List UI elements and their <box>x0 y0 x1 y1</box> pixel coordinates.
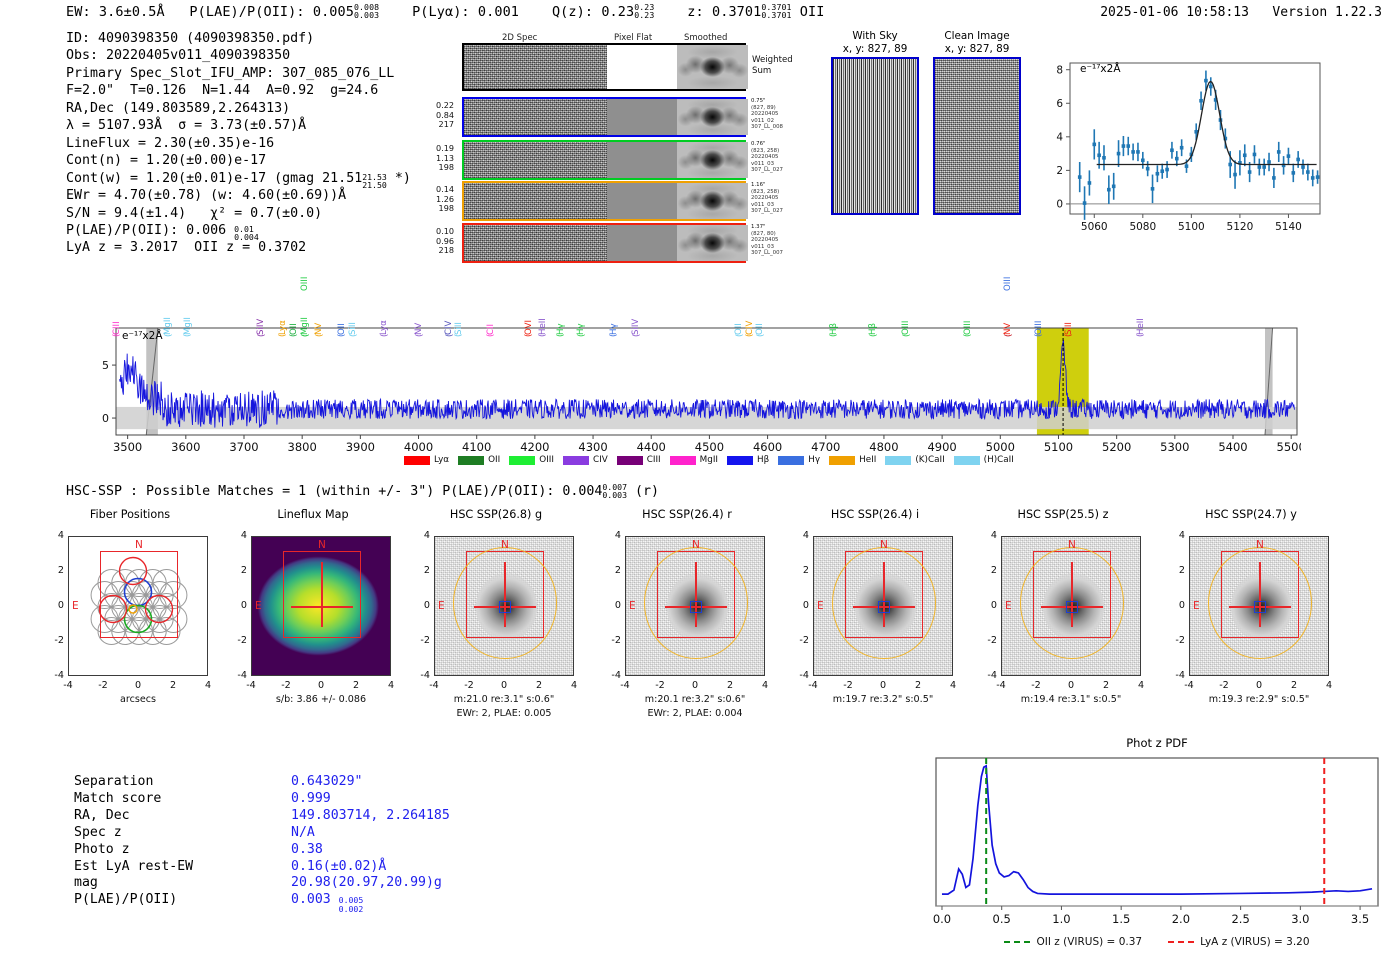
emission-line-bracket-24: ( <box>756 334 766 337</box>
legend-label-9: (K)CaII <box>915 455 944 465</box>
compass-east-1: E <box>255 600 262 612</box>
cutout-caption2-3: EWr: 2, PLAE: 0.004 <box>609 708 781 719</box>
cutout-xtick-6-0: -4 <box>1177 680 1201 691</box>
emission-line-label-MgII-6: MgII <box>301 317 310 335</box>
svg-text:0: 0 <box>1056 199 1063 211</box>
legend-swatch-8 <box>829 456 855 465</box>
spec2d-row-0-cell-2 <box>677 99 748 135</box>
compass-east-3: E <box>629 600 636 612</box>
svg-text:4800: 4800 <box>869 440 898 454</box>
emission-line-label-OIII-29: OIII <box>1004 277 1013 291</box>
spectrum-legend-item-HCaII: (H)CaII <box>954 455 1014 465</box>
compass-east-6: E <box>1193 600 1200 612</box>
spec2d-row-1-meta-4: 307_LL_027 <box>751 167 807 173</box>
spec2d-row-2 <box>462 181 746 221</box>
spectrum-legend-item-H: Hβ <box>727 455 769 465</box>
svg-text:5140: 5140 <box>1275 221 1302 233</box>
cutout-xlabel-0: arcsecs <box>68 694 208 705</box>
cutout-ytick-4-3: -2 <box>787 635 809 646</box>
cutout-xtick-3-1: -2 <box>648 680 672 691</box>
cutout-ytick-2-2: 0 <box>408 600 430 611</box>
cutout-xtick-2-1: -2 <box>457 680 481 691</box>
spec2d-row-2-num-0: 0.14 <box>420 185 454 194</box>
compass-east-2: E <box>438 600 445 612</box>
cutout-xtick-3-4: 4 <box>753 680 777 691</box>
cutout-xtick-3-3: 2 <box>718 680 742 691</box>
with-sky-title: With Sky <box>826 30 924 43</box>
header-plae-label: P(LAE)/P(OII): <box>189 4 304 20</box>
spec2d-row-0 <box>462 97 746 137</box>
spec2d-col-title-2: Smoothed <box>684 33 727 43</box>
svg-text:4200: 4200 <box>520 440 549 454</box>
spec2d-col-title-0: 2D Spec <box>502 33 537 43</box>
info-redshifts: LyA z = 3.2017 OII z = 0.3702 <box>66 239 411 256</box>
line-profile-plot: 5060508051005120514002468e⁻¹⁷x2Å <box>1036 55 1326 240</box>
cutout-xtick-6-1: -2 <box>1212 680 1236 691</box>
cutout-xtick-0-4: 4 <box>196 680 220 691</box>
spec2d-row-1-meta-3: v011_03 <box>751 161 807 167</box>
match-marker-6 <box>1254 601 1266 613</box>
cutout-box-6: NE <box>1189 536 1329 676</box>
hsc-header-text: HSC-SSP : Possible Matches = 1 (within +… <box>66 484 602 499</box>
spec2d-row-2-cell-0 <box>464 183 607 219</box>
cutout-caption2-2: EWr: 2, PLAE: 0.005 <box>418 708 590 719</box>
header-plya-value: 0.001 <box>478 4 519 20</box>
spec2d-row-1-meta-2: 20220405 <box>751 154 807 160</box>
svg-text:4000: 4000 <box>404 440 433 454</box>
photz-legend: OII z (VIRUS) = 0.37LyA z (VIRUS) = 3.20 <box>928 936 1386 948</box>
svg-text:5400: 5400 <box>1218 440 1247 454</box>
legend-swatch-3 <box>563 456 589 465</box>
emission-line-bracket-3: ( <box>257 334 267 337</box>
spectrum-legend-item-MgII: MgII <box>670 455 718 465</box>
match-table-label-5: Est LyA rest-EW <box>74 860 289 875</box>
clean-image-thumb-wrap: Clean Image x, y: 827, 89 <box>928 30 1026 215</box>
emission-line-bracket-22: ( <box>735 334 745 337</box>
cutout-xtick-0-1: -2 <box>91 680 115 691</box>
emission-line-label-SiIV-21: SiIV <box>632 319 641 335</box>
spec2d-row-1 <box>462 140 746 180</box>
legend-swatch-4 <box>617 456 643 465</box>
header-qz-label: Q(z): <box>552 4 593 20</box>
cutout-xtick-6-2: 0 <box>1247 680 1271 691</box>
svg-text:0: 0 <box>102 412 109 425</box>
match-table-value-7: 0.003 0.0050.002 <box>291 893 450 909</box>
compass-east-5: E <box>1005 600 1012 612</box>
header-z-errors: 0.37010.3701 <box>761 3 791 19</box>
legend-swatch-0 <box>404 456 430 465</box>
cutout-ytick-6-1: 2 <box>1163 565 1185 576</box>
emission-line-bracket-30: ( <box>1004 334 1014 337</box>
with-sky-thumb-wrap: With Sky x, y: 827, 89 <box>826 30 924 215</box>
svg-text:5120: 5120 <box>1227 221 1254 233</box>
info-obs: Obs: 20220405v011_4090398350 <box>66 47 411 64</box>
cutout-ytick-3-2: 0 <box>599 600 621 611</box>
legend-label-8: HeII <box>859 455 876 465</box>
cutout-xtick-1-0: -4 <box>239 680 263 691</box>
spec2d-row-1-meta-0: 0.76" <box>751 141 807 147</box>
emission-line-bracket-28: ( <box>963 334 973 337</box>
cutout-xtick-0-0: -4 <box>56 680 80 691</box>
svg-text:4: 4 <box>1056 131 1063 143</box>
emission-line-label-MgII-1: MgII <box>164 317 173 335</box>
cutout-box-1: NE <box>251 536 391 676</box>
spec2d-row-0-meta-4: 307_LL_008 <box>751 124 807 130</box>
compass-north-5: N <box>1068 539 1076 551</box>
spec2d-ws-cell-0 <box>464 45 607 89</box>
cutout-ytick-2-3: -2 <box>408 635 430 646</box>
svg-text:4300: 4300 <box>578 440 607 454</box>
emission-line-label-HeII-17: HeII <box>539 318 548 335</box>
compass-north-6: N <box>1256 539 1264 551</box>
svg-text:8: 8 <box>1056 64 1063 76</box>
legend-label-2: OIII <box>539 455 554 465</box>
cutout-xtick-6-3: 2 <box>1282 680 1306 691</box>
hsc-header-errors: 0.0070.003 <box>602 483 627 499</box>
full-spectrum-svg: 0535003600370038003900400041004200430044… <box>86 270 1301 465</box>
cutout-xtick-0-3: 2 <box>161 680 185 691</box>
cutout-title-3: HSC SSP(26.4) r <box>617 508 757 521</box>
spec2d-row-2-meta-0: 1.16" <box>751 182 807 188</box>
cutout-ytick-0-1: 2 <box>42 565 64 576</box>
svg-text:5060: 5060 <box>1081 221 1108 233</box>
spectrum-legend-item-KCaII: (K)CaII <box>885 455 944 465</box>
timestamp: 2025-01-06 10:58:13 <box>1100 5 1249 20</box>
spectrum-legend-item-HeII: HeII <box>829 455 876 465</box>
spec2d-row-1-meta-1: (823, 258) <box>751 148 807 154</box>
emission-line-bracket-21: ( <box>632 334 642 337</box>
spec2d-row-0-meta-3: v011_02 <box>751 118 807 124</box>
cutout-xtick-6-4: 4 <box>1317 680 1341 691</box>
compass-north-3: N <box>692 539 700 551</box>
cutout-xtick-5-4: 4 <box>1129 680 1153 691</box>
match-table-row: RA, Dec149.803714, 2.264185 <box>74 809 450 824</box>
emission-line-bracket-25: ( <box>829 334 839 337</box>
emission-line-bracket-31: ( <box>1034 334 1044 337</box>
cutout-box-3: NE <box>625 536 765 676</box>
weighted-sum-label-1: Sum <box>752 66 771 76</box>
cutout-caption-6: m:19.3 re:2.9" s:0.5" <box>1173 694 1345 705</box>
match-table-value-3: N/A <box>291 826 450 841</box>
cutout-ytick-1-2: 0 <box>225 600 247 611</box>
match-table-label-2: RA, Dec <box>74 809 289 824</box>
header-version-line: 2025-01-06 10:58:13 Version 1.22.3 <box>1100 5 1382 20</box>
svg-text:3900: 3900 <box>346 440 375 454</box>
cutout-ytick-6-0: 4 <box>1163 530 1185 541</box>
info-ewr: EWr = 4.70(±0.78) (w: 4.60(±0.69))Å <box>66 187 411 204</box>
cutout-title-4: HSC SSP(26.4) i <box>805 508 945 521</box>
legend-swatch-2 <box>509 456 535 465</box>
match-table-row: Spec zN/A <box>74 826 450 841</box>
cutout-box-2: NE <box>434 536 574 676</box>
source-info-block: ID: 4090398350 (4090398350.pdf) Obs: 202… <box>66 30 411 257</box>
legend-label-3: CIV <box>593 455 608 465</box>
info-lineflux: LineFlux = 2.30(±0.35)e-16 <box>66 135 411 152</box>
cutout-title-0: Fiber Positions <box>60 508 200 521</box>
emission-line-bracket-15: ( <box>486 334 496 337</box>
cutout-xtick-4-1: -2 <box>836 680 860 691</box>
match-table-value-4: 0.38 <box>291 843 450 858</box>
svg-text:3600: 3600 <box>171 440 200 454</box>
svg-text:5500: 5500 <box>1277 440 1301 454</box>
cutout-caption-4: m:19.7 re:3.2" s:0.5" <box>797 694 969 705</box>
cutout-title-2: HSC SSP(26.8) g <box>426 508 566 521</box>
cutout-box-0: NE <box>68 536 208 676</box>
emission-line-bracket-16: ( <box>524 334 534 337</box>
spec2d-row-3-cell-0 <box>464 225 607 261</box>
spec2d-row-3-meta-0: 1.37" <box>751 224 807 230</box>
svg-text:0.0: 0.0 <box>933 912 951 926</box>
cutout-caption-1: s/b: 3.86 +/- 0.086 <box>235 694 407 705</box>
photz-legend-item-1: LyA z (VIRUS) = 3.20 <box>1168 936 1309 948</box>
cutout-title-1: Lineflux Map <box>243 508 383 521</box>
cutout-xtick-5-0: -4 <box>989 680 1013 691</box>
legend-swatch-9 <box>885 456 911 465</box>
match-table-label-0: Separation <box>74 775 289 790</box>
header-qz-value: 0.23 <box>601 4 634 20</box>
match-marker-3 <box>690 601 702 613</box>
compass-east-0: E <box>72 600 79 612</box>
emission-line-label-SiIV-3: SiIV <box>257 319 266 335</box>
svg-text:5100: 5100 <box>1178 221 1205 233</box>
clean-image-image <box>933 57 1021 215</box>
photz-legend-label-0: OII z (VIRUS) = 0.37 <box>1036 936 1142 948</box>
emission-line-bracket-23: ( <box>745 334 755 337</box>
header-z-label: z: <box>687 4 703 20</box>
svg-text:0.5: 0.5 <box>993 912 1011 926</box>
emission-line-bracket-17: ( <box>538 334 548 337</box>
info-cont-n: Cont(n) = 1.20(±0.00)e-17 <box>66 152 411 169</box>
match-table-row: Separation0.643029" <box>74 775 450 790</box>
svg-text:5200: 5200 <box>1102 440 1131 454</box>
cutout-ytick-4-2: 0 <box>787 600 809 611</box>
info-radec: RA,Dec (149.803589,2.264313) <box>66 100 411 117</box>
match-table-errors-7: 0.0050.002 <box>339 896 364 912</box>
spec2d-row-2-cell-1 <box>607 183 677 219</box>
legend-label-4: CIII <box>647 455 661 465</box>
line-profile-svg: 5060508051005120514002468 <box>1036 55 1326 240</box>
cutout-ytick-6-3: -2 <box>1163 635 1185 646</box>
cutout-xtick-2-2: 0 <box>492 680 516 691</box>
spec2d-row-1-num-2: 198 <box>420 163 454 172</box>
match-table-value-0: 0.643029" <box>291 775 450 790</box>
header-plya-label: P(Lyα): <box>412 4 470 20</box>
header-z-value: 0.3701 <box>712 4 761 20</box>
legend-swatch-1 <box>458 456 484 465</box>
aperture-box-0 <box>100 551 178 638</box>
svg-text:4700: 4700 <box>811 440 840 454</box>
emission-line-bracket-18: ( <box>556 334 566 337</box>
match-marker-4 <box>878 601 890 613</box>
full-spectrum-plot: 0535003600370038003900400041004200430044… <box>86 270 1301 465</box>
emission-line-bracket-7: ( <box>301 334 311 337</box>
svg-text:2.0: 2.0 <box>1172 912 1190 926</box>
cutout-ytick-5-1: 2 <box>975 565 997 576</box>
header-qz-errors: 0.230.23 <box>634 3 654 19</box>
cutout-xtick-1-3: 2 <box>344 680 368 691</box>
emission-line-bracket-13: ( <box>445 334 455 337</box>
emission-line-bracket-11: ( <box>380 334 390 337</box>
spectrum-legend-item-OII: OII <box>458 455 500 465</box>
spec2d-row-3-meta-2: 20220405 <box>751 237 807 243</box>
spec2d-col-title-1: Pixel Flat <box>614 33 652 43</box>
spec2d-panel-group: 2D SpecPixel FlatSmoothedWeightedSum0.22… <box>462 33 767 243</box>
crosshair-v-1 <box>321 562 322 626</box>
svg-text:1.5: 1.5 <box>1112 912 1130 926</box>
cutout-caption-5: m:19.4 re:3.1" s:0.5" <box>985 694 1157 705</box>
cutout-ytick-1-1: 2 <box>225 565 247 576</box>
svg-text:3.5: 3.5 <box>1351 912 1369 926</box>
match-table-row: P(LAE)/P(OII)0.003 0.0050.002 <box>74 893 450 909</box>
spec2d-row-2-meta-4: 307_LL_027 <box>751 208 807 214</box>
legend-swatch-10 <box>954 456 980 465</box>
cutout-xtick-0-2: 0 <box>126 680 150 691</box>
info-id: ID: 4090398350 (4090398350.pdf) <box>66 30 411 47</box>
emission-line-bracket-0: ( <box>112 334 122 337</box>
spec2d-row-0-meta-1: (827, 89) <box>751 105 807 111</box>
cutout-title-5: HSC SSP(25.5) z <box>993 508 1133 521</box>
cutout-title-6: HSC SSP(24.7) y <box>1181 508 1321 521</box>
info-lambda: λ = 5107.93Å σ = 3.73(±0.57)Å <box>66 117 411 134</box>
spec2d-weighted-sum-row <box>462 43 746 91</box>
emission-line-label-OIII-7: OIII <box>301 277 310 291</box>
svg-text:4400: 4400 <box>637 440 666 454</box>
spec2d-row-1-cell-2 <box>677 142 748 178</box>
header-ew: EW: 3.6±0.5Å <box>66 4 165 20</box>
header-z-type: OII <box>800 4 825 20</box>
header-plae-errors: 0.0080.003 <box>354 3 379 19</box>
match-marker-2 <box>499 601 511 613</box>
compass-north-4: N <box>880 539 888 551</box>
cutout-xtick-5-3: 2 <box>1094 680 1118 691</box>
cutout-xtick-1-1: -2 <box>274 680 298 691</box>
emission-line-label-HeII-33: HeII <box>1137 318 1146 335</box>
emission-line-bracket-10: ( <box>349 334 359 337</box>
svg-text:5000: 5000 <box>986 440 1015 454</box>
match-table-value-5: 0.16(±0.02)Å <box>291 860 450 875</box>
cutout-ytick-4-0: 4 <box>787 530 809 541</box>
emission-line-bracket-27: ( <box>902 334 912 337</box>
spec2d-row-0-cell-1 <box>607 99 677 135</box>
match-table-label-3: Spec z <box>74 826 289 841</box>
emission-line-bracket-12: ( <box>415 334 425 337</box>
cutout-xtick-2-3: 2 <box>527 680 551 691</box>
spec2d-row-3-cell-2 <box>677 225 748 261</box>
cutout-xtick-3-2: 0 <box>683 680 707 691</box>
spec2d-row-3-num-2: 218 <box>420 246 454 255</box>
legend-label-10: (H)CaII <box>984 455 1014 465</box>
spec2d-row-0-num-2: 217 <box>420 120 454 129</box>
info-sn: S/N = 9.4(±1.4) χ² = 0.7(±0.0) <box>66 205 411 222</box>
clean-image-title: Clean Image <box>928 30 1026 43</box>
svg-text:4600: 4600 <box>753 440 782 454</box>
emission-line-bracket-33: ( <box>1136 334 1146 337</box>
hsc-header-line: HSC-SSP : Possible Matches = 1 (within +… <box>66 484 659 500</box>
cutout-ytick-5-0: 4 <box>975 530 997 541</box>
photz-legend-dash-1 <box>1168 941 1194 943</box>
header-plae-value: 0.005 <box>313 4 354 20</box>
spectrum-legend-item-CIII: CIII <box>617 455 661 465</box>
spec2d-row-0-num-0: 0.22 <box>420 101 454 110</box>
compass-north-0: N <box>135 539 143 551</box>
spec2d-row-1-num-0: 0.19 <box>420 144 454 153</box>
legend-swatch-6 <box>727 456 753 465</box>
spec2d-row-3-num-0: 0.10 <box>420 227 454 236</box>
cutout-ytick-0-3: -2 <box>42 635 64 646</box>
match-table-label-6: mag <box>74 876 289 891</box>
spec2d-row-1-cell-0 <box>464 142 607 178</box>
match-table-value-6: 20.98(20.97,20.99)g <box>291 876 450 891</box>
cutout-ytick-3-0: 4 <box>599 530 621 541</box>
cutout-xtick-5-2: 0 <box>1059 680 1083 691</box>
match-table-label-4: Photo z <box>74 843 289 858</box>
svg-text:1.0: 1.0 <box>1052 912 1070 926</box>
spectrum-legend-item-Ly: Lyα <box>404 455 449 465</box>
emission-line-bracket-19: ( <box>577 334 587 337</box>
cutout-xtick-4-4: 4 <box>941 680 965 691</box>
spec2d-row-0-meta-2: 20220405 <box>751 111 807 117</box>
svg-text:3500: 3500 <box>113 440 142 454</box>
legend-label-5: MgII <box>700 455 718 465</box>
cutout-caption-2: m:21.0 re:3.1" s:0.6" <box>418 694 590 705</box>
spec2d-row-2-num-2: 198 <box>420 204 454 213</box>
cutout-ytick-1-3: -2 <box>225 635 247 646</box>
cutout-ytick-2-0: 4 <box>408 530 430 541</box>
spec2d-row-2-meta-1: (823, 258) <box>751 189 807 195</box>
emission-line-bracket-26: ( <box>869 334 879 337</box>
svg-text:5300: 5300 <box>1160 440 1189 454</box>
with-sky-coords: x, y: 827, 89 <box>826 43 924 56</box>
info-plae: P(LAE)/P(OII): 0.006 0.010.004 <box>66 222 411 239</box>
spec2d-ws-cell-1 <box>607 45 677 89</box>
spec2d-row-3-meta-3: v011_03 <box>751 244 807 250</box>
weighted-sum-label-0: Weighted <box>752 55 793 65</box>
photz-pdf-svg: 0.00.51.01.52.02.53.03.5 <box>928 752 1386 932</box>
cutout-ytick-1-0: 4 <box>225 530 247 541</box>
photz-pdf-plot: Phot z PDF 0.00.51.01.52.02.53.03.5OII z… <box>928 752 1386 950</box>
spec2d-row-3-cell-1 <box>607 225 677 261</box>
svg-text:6: 6 <box>1056 98 1063 110</box>
cutout-box-4: NE <box>813 536 953 676</box>
svg-text:3800: 3800 <box>288 440 317 454</box>
cutout-xtick-4-3: 2 <box>906 680 930 691</box>
svg-text:2.5: 2.5 <box>1231 912 1249 926</box>
with-sky-image <box>831 57 919 215</box>
emission-line-bracket-1: ( <box>164 334 174 337</box>
svg-text:4100: 4100 <box>462 440 491 454</box>
cutout-ytick-6-2: 0 <box>1163 600 1185 611</box>
cutout-ytick-3-1: 2 <box>599 565 621 576</box>
photz-legend-dash-0 <box>1004 941 1030 943</box>
cutout-xtick-4-2: 0 <box>871 680 895 691</box>
spec2d-row-2-meta-2: 20220405 <box>751 195 807 201</box>
spec2d-ws-cell-2 <box>677 45 748 89</box>
cutout-ytick-4-1: 2 <box>787 565 809 576</box>
svg-text:5: 5 <box>102 359 109 372</box>
cutout-panel-row: Fiber PositionsNE420-2-4-4-2024arcsecsLi… <box>0 508 1400 743</box>
spectrum-legend: LyαOIIOIIICIVCIIIMgIIHβHγHeII(K)CaII(H)C… <box>404 455 1014 465</box>
compass-north-2: N <box>501 539 509 551</box>
info-primary-spec: Primary Spec_Slot_IFU_AMP: 307_085_076_L… <box>66 65 411 82</box>
emission-line-bracket-9: ( <box>337 334 347 337</box>
spec2d-row-0-meta-0: 0.75" <box>751 98 807 104</box>
full-spectrum-units-annotation: e⁻¹⁷x2Å <box>122 330 163 342</box>
cutout-xtick-5-1: -2 <box>1024 680 1048 691</box>
cutout-xtick-2-0: -4 <box>422 680 446 691</box>
spectrum-legend-item-H: Hγ <box>778 455 820 465</box>
compass-north-1: N <box>318 539 326 551</box>
svg-text:4500: 4500 <box>695 440 724 454</box>
